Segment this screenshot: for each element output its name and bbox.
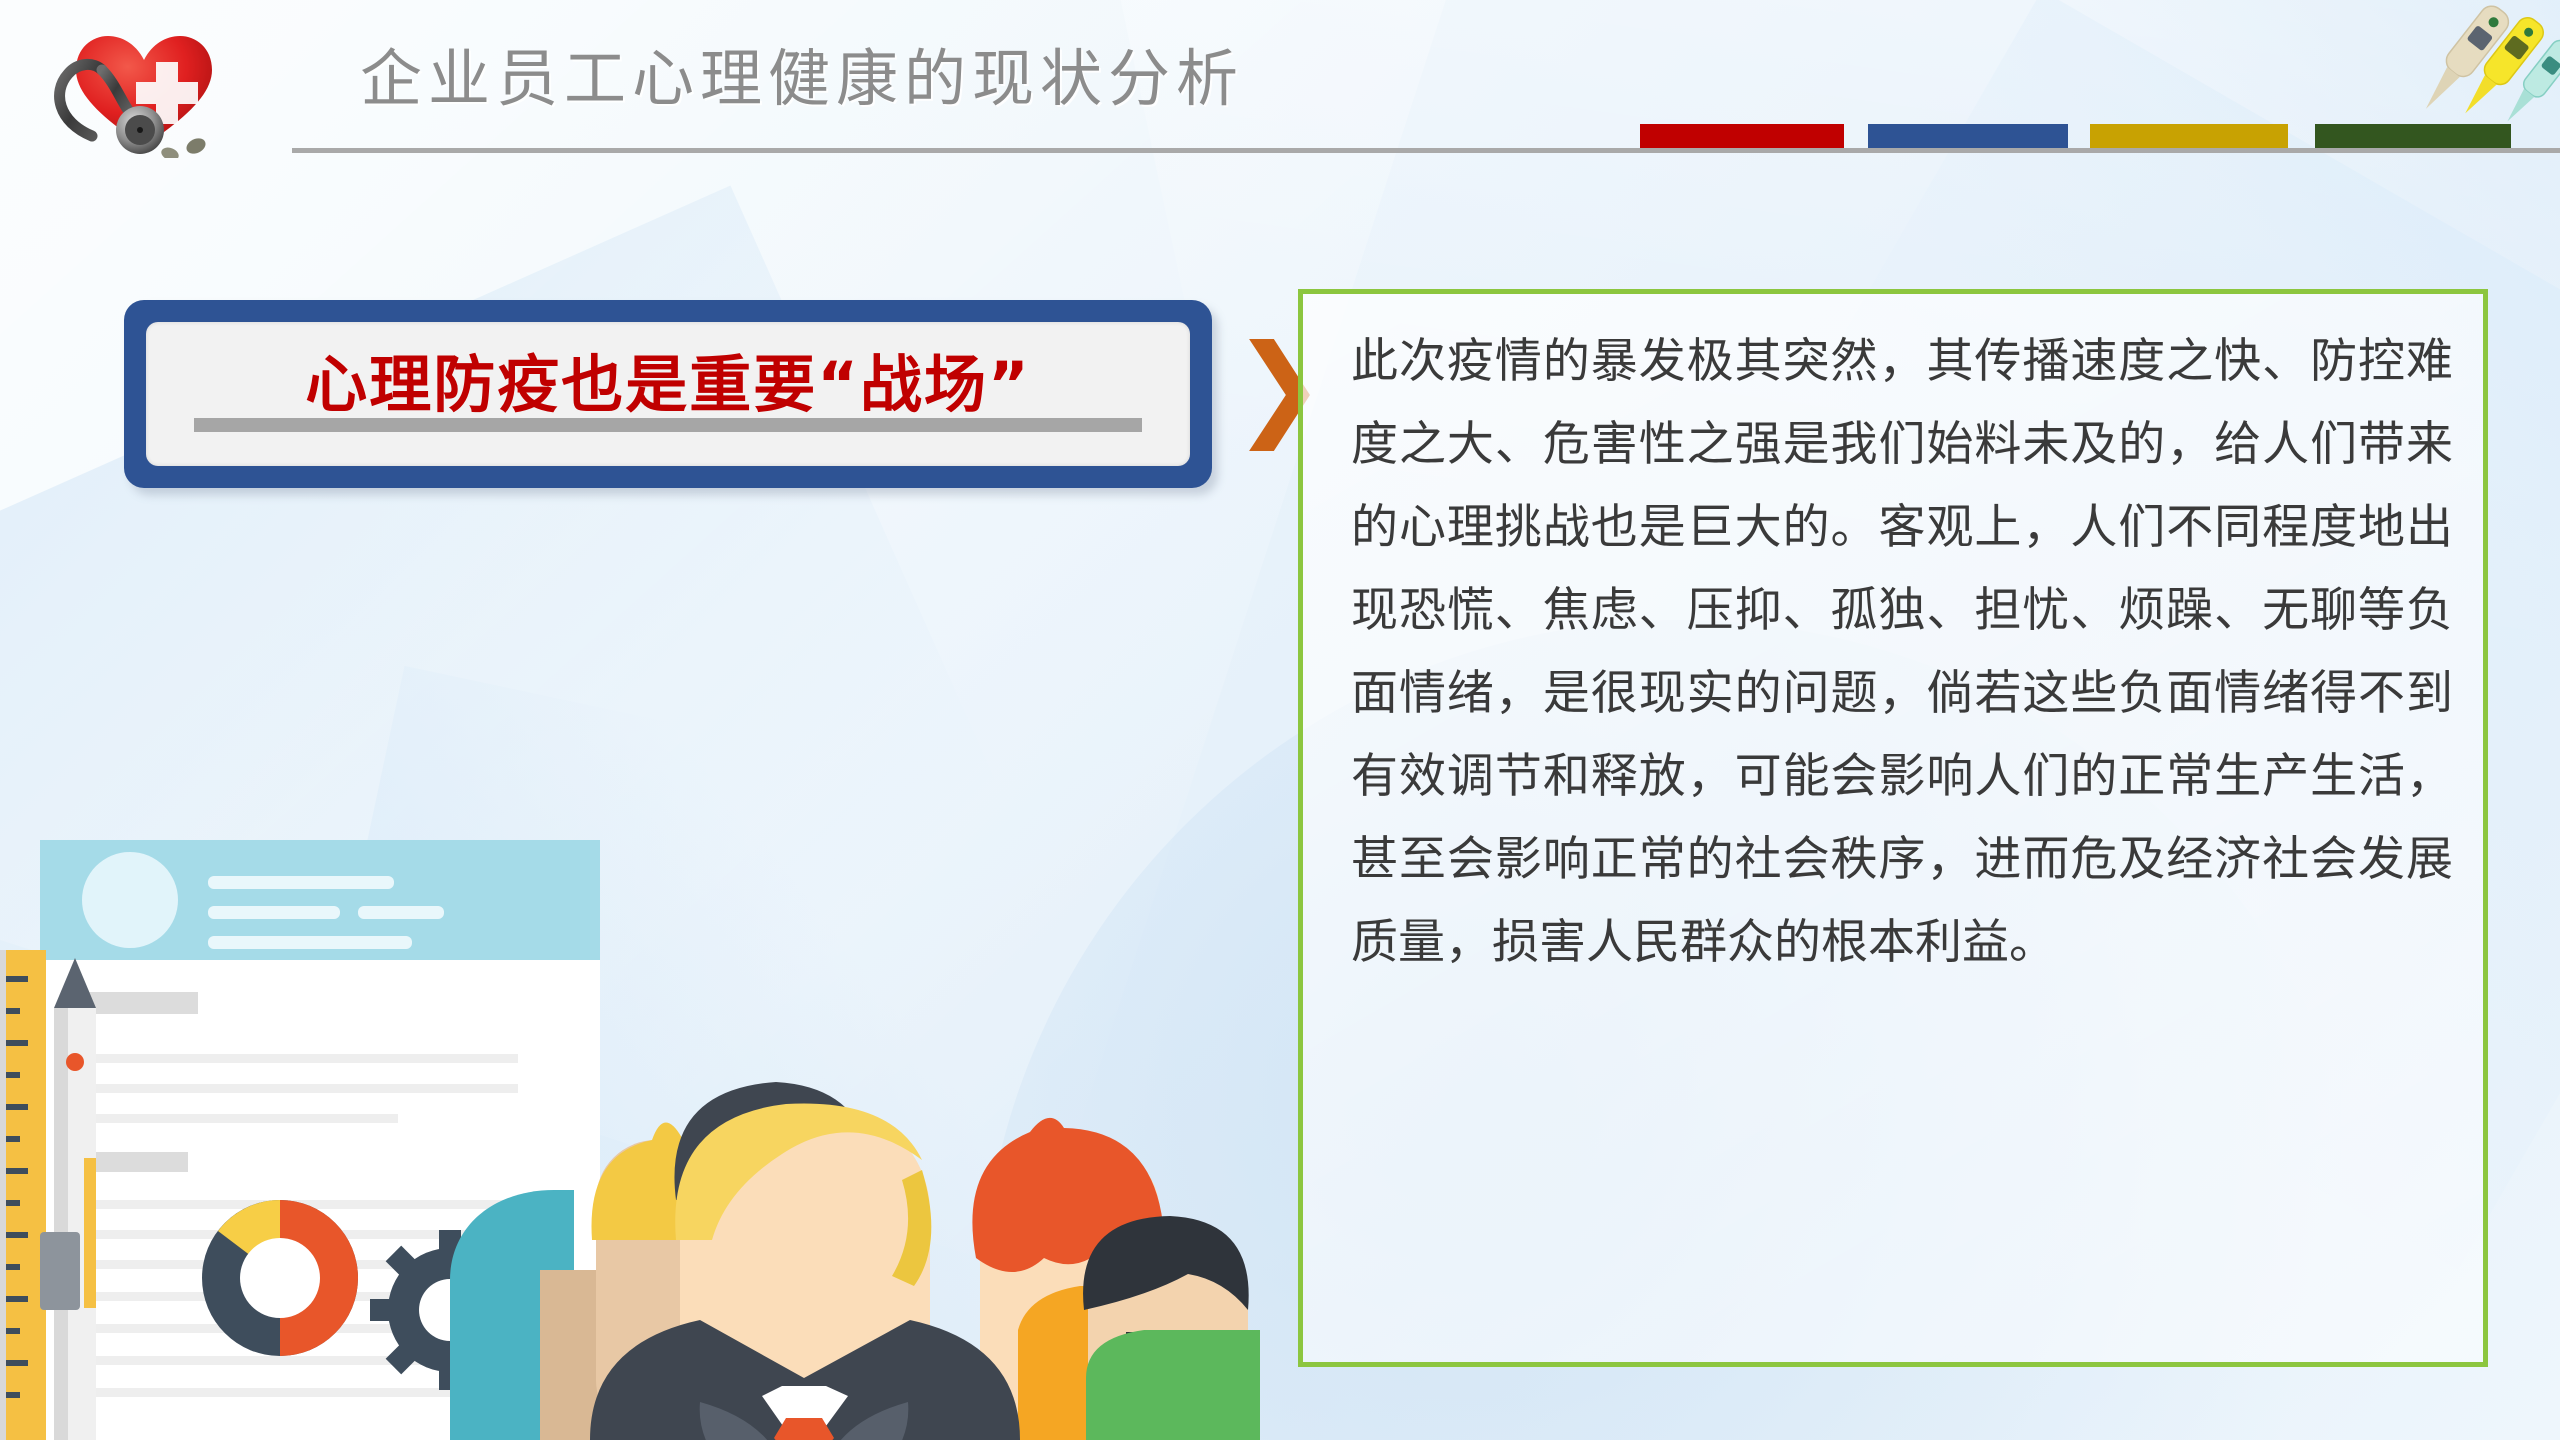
section-title-plaque: 心理防疫也是重要“战场” xyxy=(124,300,1212,488)
business-people-illustration xyxy=(0,840,1260,1440)
slide-root: 企业员工心理健康的现状分析 xyxy=(0,0,2560,1440)
header-divider xyxy=(292,148,2560,153)
content-card: 此次疫情的暴发极其突然，其传播速度之快、防控难度之大、危害性之强是我们始料未及的… xyxy=(1298,289,2488,1367)
bar-yellow xyxy=(2090,124,2288,149)
page-title: 企业员工心理健康的现状分析 xyxy=(360,28,1244,118)
bar-red xyxy=(1640,124,1844,149)
section-title-text: 心理防疫也是重要“战场” xyxy=(146,334,1190,424)
chevron-right-icon: ❯ xyxy=(1232,336,1292,452)
content-paragraph: 此次疫情的暴发极其突然，其传播速度之快、防控难度之大、危害性之强是我们始料未及的… xyxy=(1351,320,2453,984)
accent-bar-group xyxy=(1640,124,2520,149)
slide-header: 企业员工心理健康的现状分析 xyxy=(0,0,2560,160)
section-title-underline xyxy=(194,418,1142,432)
section-title-inner: 心理防疫也是重要“战场” xyxy=(146,322,1190,466)
bar-blue xyxy=(1868,124,2068,149)
heart-stethoscope-icon xyxy=(44,18,234,158)
thermometer-icon xyxy=(2400,0,2560,152)
